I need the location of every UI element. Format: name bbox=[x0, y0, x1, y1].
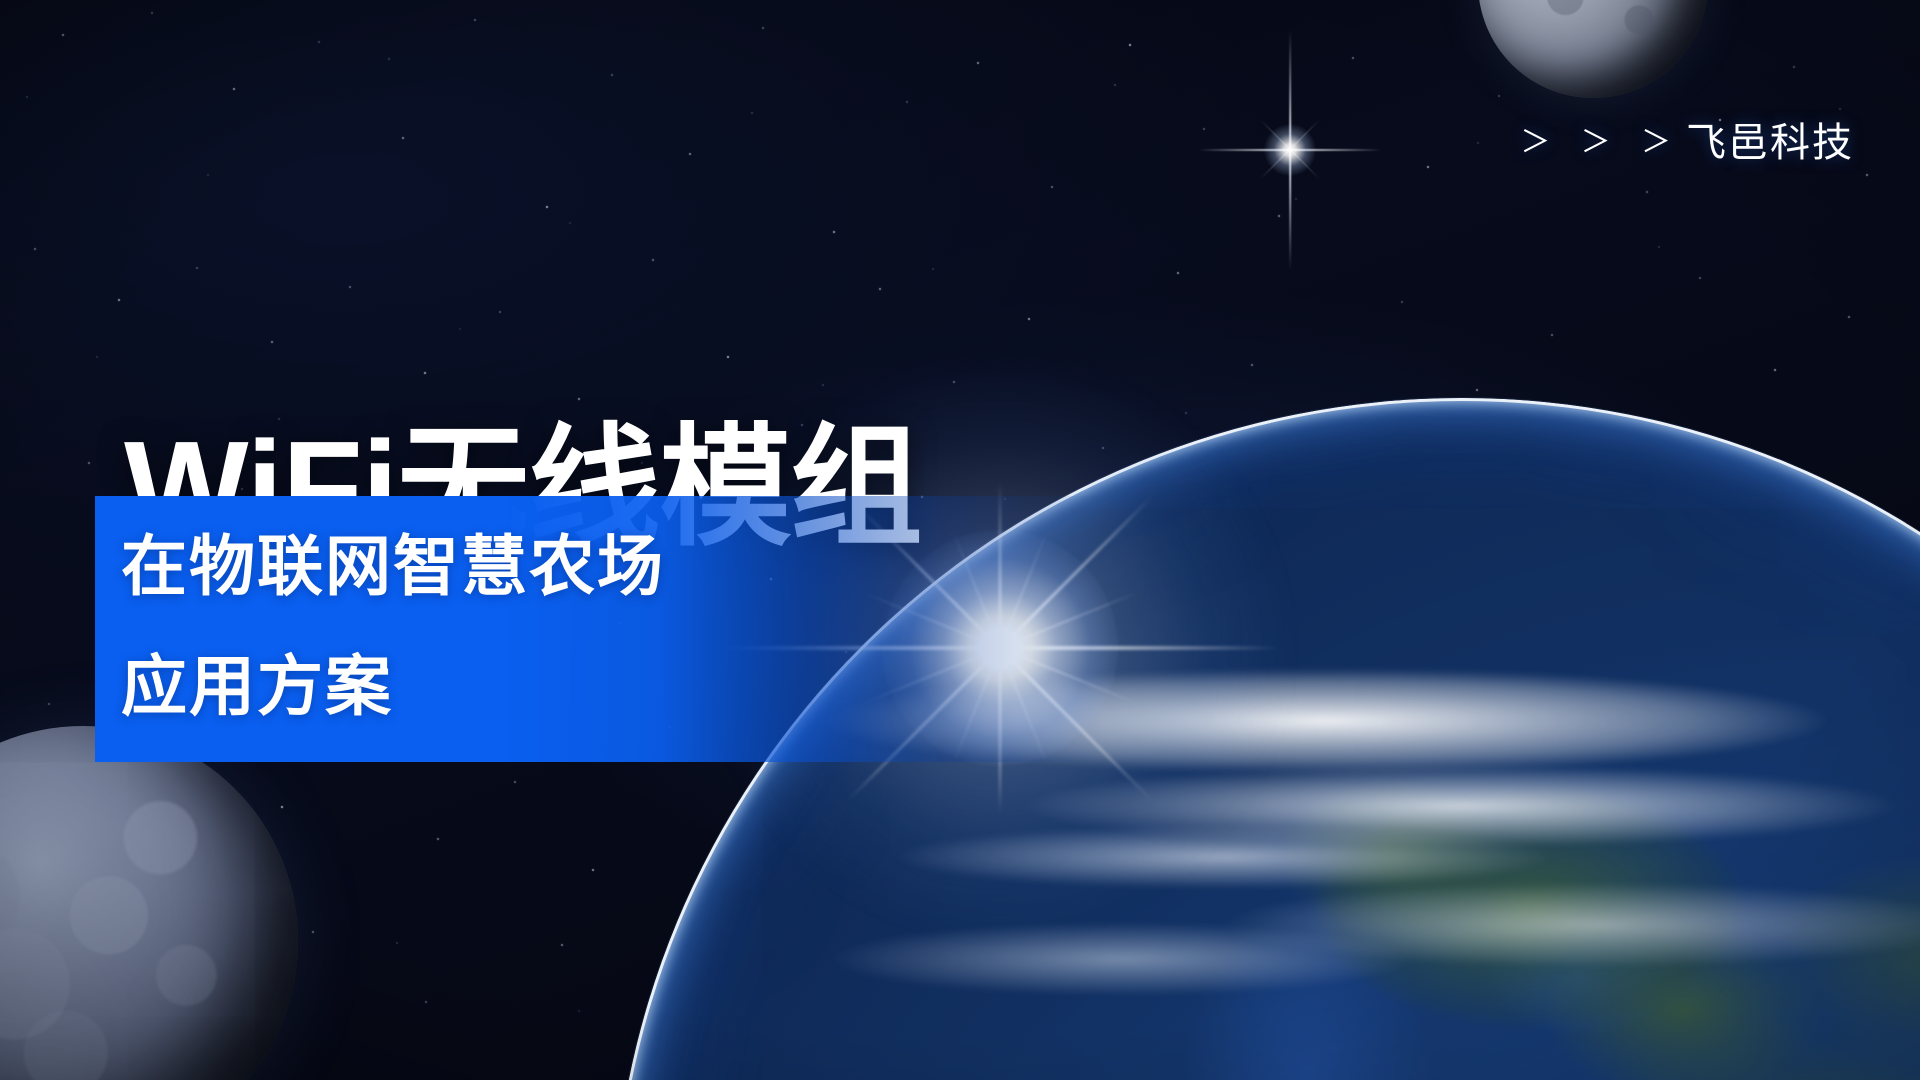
subtitle-line-1: 在物联网智慧农场 bbox=[121, 506, 665, 626]
poster-canvas: ＞ ＞ ＞ 飞邑科技 WiFi无线模组 在物联网智慧农场 应用方案 bbox=[0, 0, 1920, 1080]
subtitle-lines: 在物联网智慧农场 应用方案 bbox=[121, 506, 665, 746]
brand-name: 飞邑科技 bbox=[1686, 110, 1854, 168]
subtitle-line-2: 应用方案 bbox=[121, 626, 665, 746]
subtitle-banner: 在物联网智慧农场 应用方案 bbox=[95, 496, 1105, 762]
chevron-right-triple-icon: ＞ ＞ ＞ bbox=[1520, 117, 1682, 161]
sparkle-core bbox=[1264, 124, 1316, 176]
star-layer-faint bbox=[0, 0, 2, 2]
brand-logo: ＞ ＞ ＞ 飞邑科技 bbox=[1520, 110, 1854, 168]
